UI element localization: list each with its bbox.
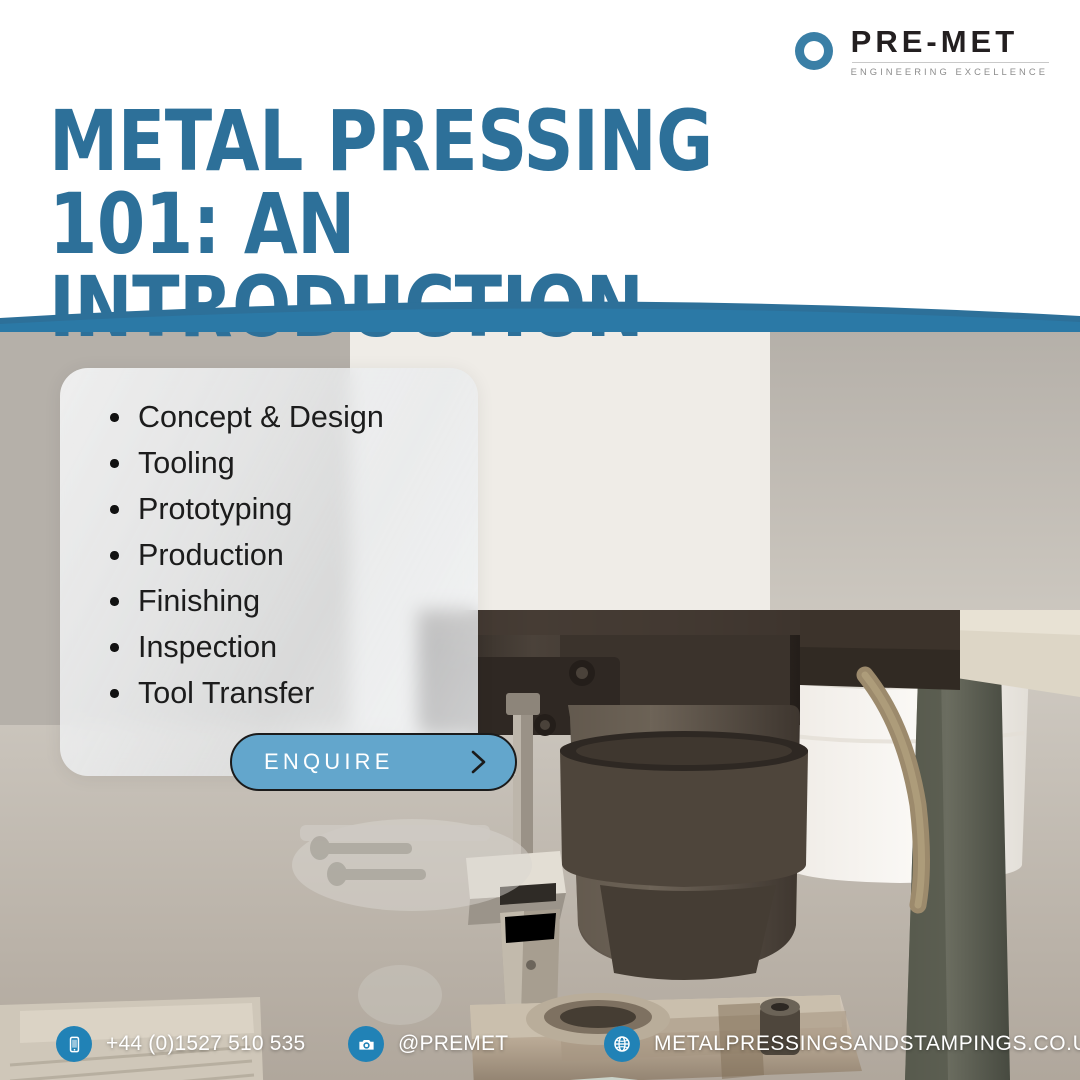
- footer-social-text: @PREMET: [398, 1032, 508, 1056]
- segmented-ring-icon: [791, 28, 837, 74]
- list-item: Concept & Design: [108, 402, 478, 448]
- chevron-right-icon: [469, 749, 489, 775]
- header-band: PRE-MET ENGINEERING EXCELLENCE Metal Pre…: [0, 0, 1080, 318]
- enquire-button[interactable]: ENQUIRE: [230, 733, 517, 791]
- brand-logo[interactable]: PRE-MET ENGINEERING EXCELLENCE: [791, 26, 1048, 76]
- list-item: Prototyping: [108, 494, 478, 540]
- enquire-button-label: ENQUIRE: [264, 751, 394, 773]
- list-item: Tooling: [108, 448, 478, 494]
- globe-icon: [604, 1026, 640, 1062]
- camera-icon: [348, 1026, 384, 1062]
- process-list: Concept & Design Tooling Prototyping Pro…: [60, 368, 478, 724]
- footer-contact-bar: +44 (0)1527 510 535 @PREMET METALPRESSIN…: [0, 1008, 1080, 1080]
- logo-divider-rule: [852, 62, 1049, 63]
- brand-tagline: ENGINEERING EXCELLENCE: [851, 67, 1048, 76]
- footer-website[interactable]: METALPRESSINGSANDSTAMPINGS.CO.UK: [604, 1026, 1080, 1062]
- page-title: Metal Pressing 101: An Introduction: [49, 100, 877, 349]
- footer-social[interactable]: @PREMET: [348, 1026, 508, 1062]
- footer-phone-text: +44 (0)1527 510 535: [106, 1032, 305, 1056]
- mobile-phone-icon: [56, 1026, 92, 1062]
- list-item: Inspection: [108, 632, 478, 678]
- list-item: Finishing: [108, 586, 478, 632]
- list-item: Tool Transfer: [108, 678, 478, 724]
- process-list-card: Concept & Design Tooling Prototyping Pro…: [60, 368, 478, 776]
- footer-website-text: METALPRESSINGSANDSTAMPINGS.CO.UK: [654, 1032, 1080, 1056]
- footer-phone[interactable]: +44 (0)1527 510 535: [56, 1026, 305, 1062]
- brand-name: PRE-MET: [851, 26, 1048, 57]
- list-item: Production: [108, 540, 478, 586]
